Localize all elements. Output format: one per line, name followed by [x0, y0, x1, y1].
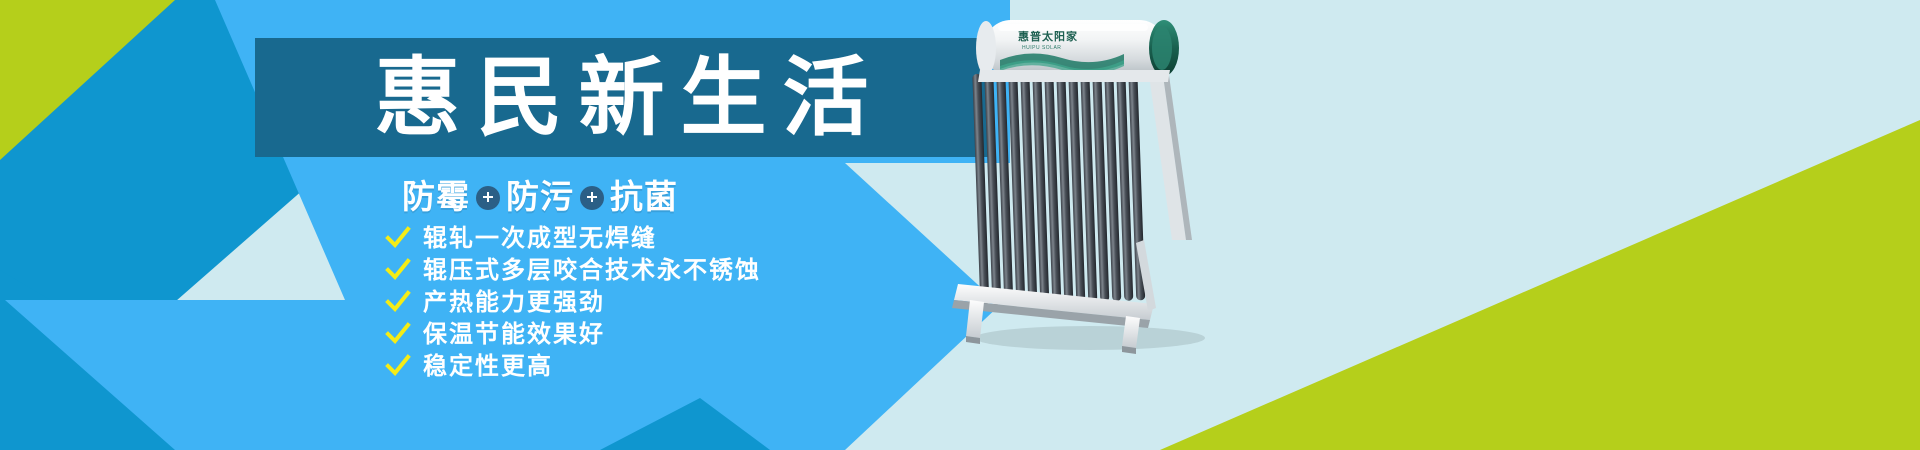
feature-label: 产热能力更强劲 — [423, 290, 605, 314]
feature-list: 辊轧一次成型无焊缝 辊压式多层咬合技术永不锈蚀 产热能力更强劲 保温节能效果好 … — [385, 222, 865, 382]
tank-brand-text: 惠普太阳家 — [1018, 29, 1078, 43]
page-title: 惠民新生活 — [359, 55, 885, 141]
feature-label: 保温节能效果好 — [423, 322, 605, 346]
list-item: 保温节能效果好 — [385, 318, 865, 350]
list-item: 产热能力更强劲 — [385, 286, 865, 318]
check-icon — [385, 289, 411, 315]
plus-icon — [476, 186, 500, 210]
solar-water-heater-illustration: 惠普太阳家 HUIPU SOLAR — [940, 8, 1280, 358]
check-icon — [385, 225, 411, 251]
list-item: 辊轧一次成型无焊缝 — [385, 222, 865, 254]
water-tank: 惠普太阳家 HUIPU SOLAR — [976, 20, 1179, 76]
check-icon — [385, 353, 411, 379]
feature-label: 辊轧一次成型无焊缝 — [423, 226, 657, 250]
product-image: 惠普太阳家 HUIPU SOLAR — [940, 8, 1280, 358]
tube-header-strip — [978, 70, 1170, 82]
tank-highlight — [998, 24, 1148, 31]
tank-brand-subtext: HUIPU SOLAR — [1022, 45, 1061, 51]
feature-label: 辊压式多层咬合技术永不锈蚀 — [423, 258, 761, 282]
subtitle-word-3: 抗菌 — [610, 180, 678, 213]
subtitle-word-1: 防霉 — [402, 180, 470, 213]
product-shadow — [975, 326, 1205, 350]
subtitle: 防霉 防污 抗菌 — [375, 175, 705, 217]
feature-label: 稳定性更高 — [423, 354, 553, 378]
plus-icon — [580, 186, 604, 210]
list-item: 辊压式多层咬合技术永不锈蚀 — [385, 254, 865, 286]
title-bar: 惠民新生活 — [255, 38, 988, 157]
tank-left-cap — [976, 21, 996, 75]
list-item: 稳定性更高 — [385, 350, 865, 382]
check-icon — [385, 257, 411, 283]
vacuum-tube-array — [972, 68, 1145, 306]
promo-banner: 惠民新生活 防霉 防污 抗菌 辊轧一次成型无焊缝 辊压式多层咬合技术永不锈蚀 — [0, 0, 1920, 450]
subtitle-word-2: 防污 — [506, 180, 574, 213]
check-icon — [385, 321, 411, 347]
